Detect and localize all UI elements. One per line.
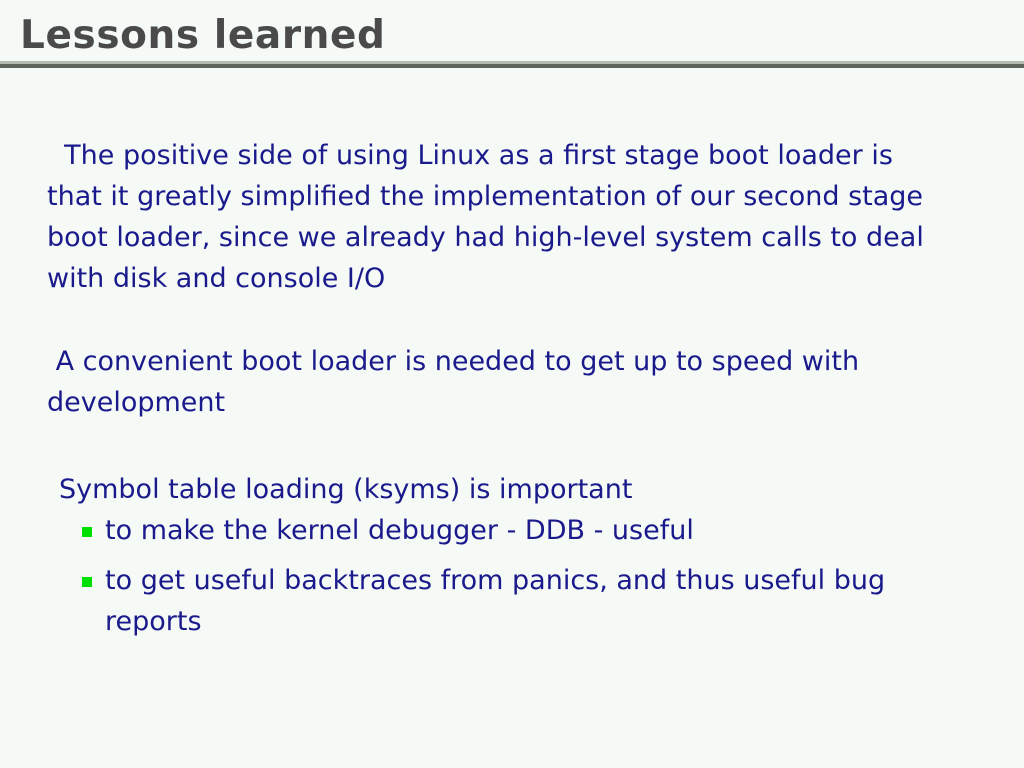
list-item-label: to make the kernel debugger - DDB - usef… xyxy=(105,510,962,551)
body-paragraph-1: The positive side of using Linux as a fi… xyxy=(47,135,952,299)
square-bullet-icon xyxy=(82,527,92,537)
presentation-slide: Lessons learned The positive side of usi… xyxy=(0,0,1024,768)
list-item-label: to get useful backtraces from panics, an… xyxy=(105,560,962,642)
list-item: to get useful backtraces from panics, an… xyxy=(82,560,962,642)
bullet-list: to make the kernel debugger - DDB - usef… xyxy=(82,510,962,651)
section-heading: Symbol table loading (ksyms) is importan… xyxy=(59,469,632,510)
slide-body: The positive side of using Linux as a fi… xyxy=(0,0,1024,768)
body-paragraph-2: A convenient boot loader is needed to ge… xyxy=(47,341,952,423)
square-bullet-icon xyxy=(82,577,92,587)
list-item: to make the kernel debugger - DDB - usef… xyxy=(82,510,962,551)
